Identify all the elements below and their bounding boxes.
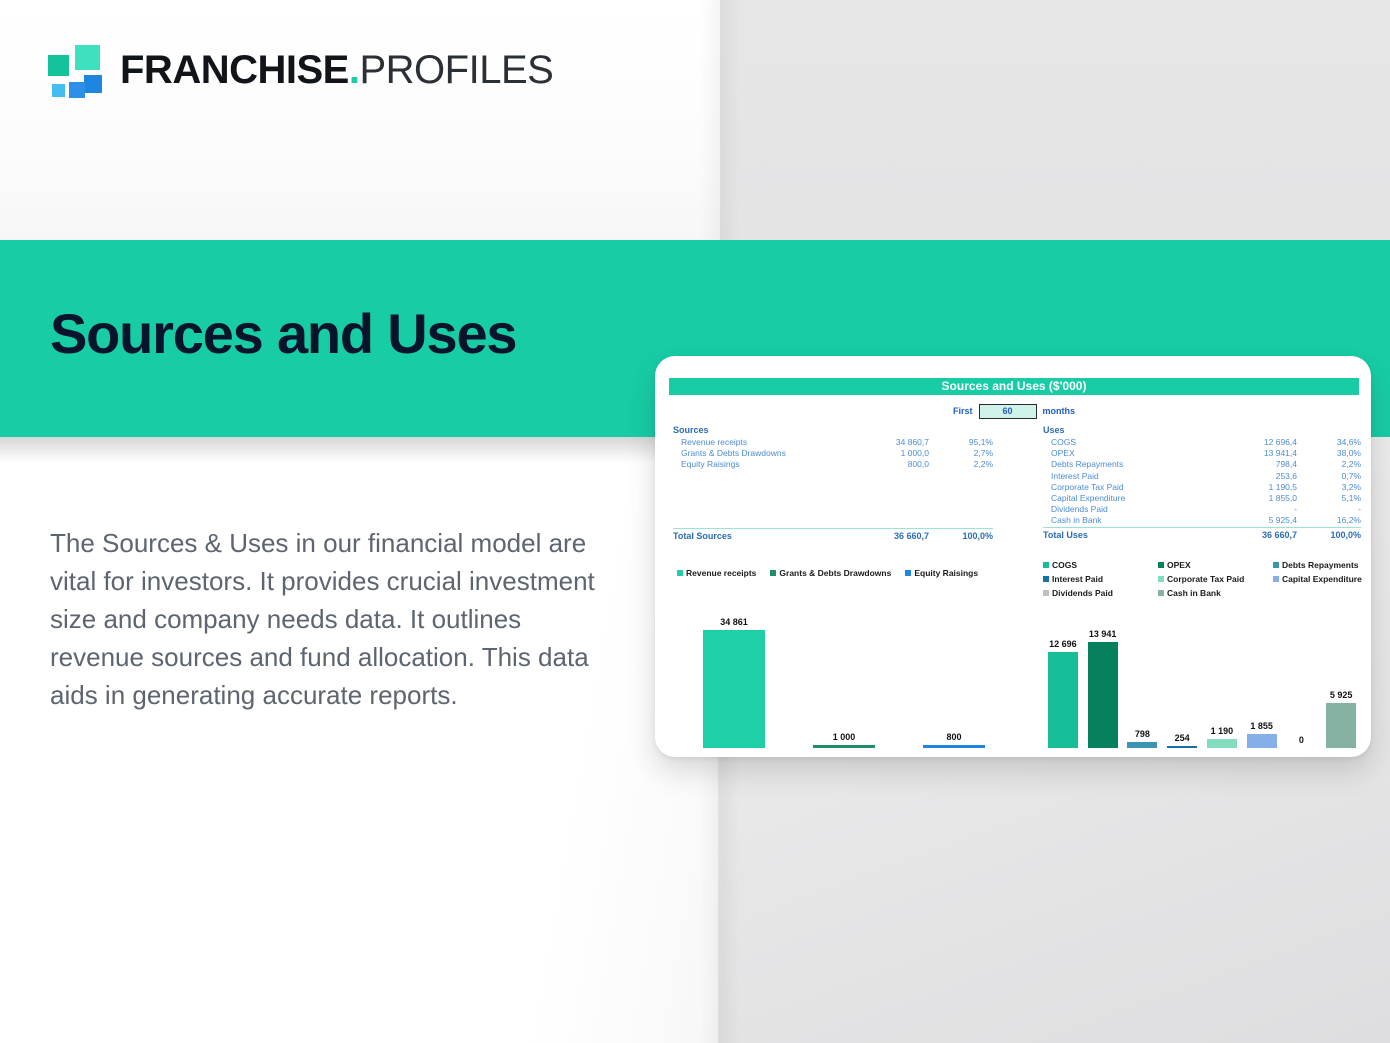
row-label: COGS	[1043, 437, 1226, 447]
bar	[1088, 642, 1118, 748]
brand-logo: FRANCHISE.PROFILES	[48, 45, 553, 95]
bar-value-label: 1 855	[1250, 721, 1273, 731]
legend-label: Equity Raisings	[914, 568, 978, 578]
row-label: Revenue receipts	[673, 437, 856, 447]
uses-bars: 12 69613 9417982541 1901 85505 925	[1043, 608, 1361, 748]
legend-item: Equity Raisings	[905, 568, 978, 578]
table-row: Revenue receipts 34 860,7 95,1%	[673, 437, 993, 448]
legend-swatch-icon	[1273, 576, 1279, 582]
row-percent: 2,7%	[935, 448, 993, 458]
row-label: Grants & Debts Drawdowns	[673, 448, 856, 458]
row-value: 5 925,4	[1226, 515, 1303, 525]
row-label: Dividends Paid	[1043, 504, 1226, 514]
table-row: Corporate Tax Paid 1 190,5 3,2%	[1043, 482, 1361, 493]
bar-group: 800	[923, 608, 985, 748]
logo-word-profiles: PROFILES	[359, 48, 553, 92]
bar-value-label: 5 925	[1330, 690, 1353, 700]
row-percent: 5,1%	[1303, 493, 1361, 503]
logo-word-franchise: FRANCHISE	[120, 48, 349, 92]
uses-bar-chart: 12 69613 9417982541 1901 85505 925	[1043, 608, 1361, 748]
bar-value-label: 12 696	[1049, 639, 1077, 649]
bar-group: 254	[1167, 608, 1197, 748]
row-value: 1 000,0	[856, 448, 935, 458]
legend-label: Corporate Tax Paid	[1167, 574, 1244, 584]
legend-item: Debts Repayments	[1273, 560, 1363, 570]
table-spacer	[673, 471, 993, 528]
body-paragraph: The Sources & Uses in our financial mode…	[50, 524, 620, 714]
table-row: Equity Raisings 800,0 2,2%	[673, 459, 993, 470]
row-percent: -	[1303, 504, 1361, 514]
legend-label: Dividends Paid	[1052, 588, 1113, 598]
uses-total-row: Total Uses 36 660,7 100,0%	[1043, 527, 1361, 543]
row-value: 798,4	[1226, 459, 1303, 469]
legend-swatch-icon	[1273, 562, 1279, 568]
sources-header: Sources	[673, 425, 993, 435]
bar-value-label: 13 941	[1089, 629, 1117, 639]
period-prefix-label: First	[953, 406, 973, 416]
row-value: 253,6	[1226, 471, 1303, 481]
table-row: Capital Expenditure 1 855,0 5,1%	[1043, 493, 1361, 504]
legend-label: Revenue receipts	[686, 568, 756, 578]
legend-label: COGS	[1052, 560, 1077, 570]
bar-value-label: 0	[1299, 735, 1304, 745]
bar-value-label: 1 190	[1211, 726, 1234, 736]
bar	[813, 745, 875, 748]
sources-total-row: Total Sources 36 660,7 100,0%	[673, 528, 993, 544]
legend-label: Debts Repayments	[1282, 560, 1359, 570]
legend-item: COGS	[1043, 560, 1158, 570]
bar	[1048, 652, 1078, 748]
period-suffix-label: months	[1043, 406, 1076, 416]
row-label: OPEX	[1043, 448, 1226, 458]
legend-swatch-icon	[770, 570, 776, 576]
spreadsheet: Sources and Uses ($'000) First 60 months…	[665, 378, 1361, 748]
page-title: Sources and Uses	[50, 305, 516, 364]
bar-group: 1 855	[1247, 608, 1277, 748]
legend-item: Dividends Paid	[1043, 588, 1158, 598]
bar-group: 12 696	[1048, 608, 1078, 748]
bar	[1326, 703, 1356, 748]
legend-label: Cash in Bank	[1167, 588, 1221, 598]
row-percent: 3,2%	[1303, 482, 1361, 492]
sources-bar-chart: 34 8611 000800	[679, 608, 1009, 748]
table-row: OPEX 13 941,4 38,0%	[1043, 448, 1361, 459]
table-row: Debts Repayments 798,4 2,2%	[1043, 459, 1361, 470]
bar	[1127, 742, 1157, 748]
row-label: Equity Raisings	[673, 459, 856, 469]
row-percent: 16,2%	[1303, 515, 1361, 525]
table-row: Grants & Debts Drawdowns 1 000,0 2,7%	[673, 448, 993, 459]
legend-item: Cash in Bank	[1158, 588, 1273, 598]
row-value: -	[1226, 504, 1303, 514]
sheet-title: Sources and Uses ($'000)	[669, 378, 1359, 395]
legend-swatch-icon	[1043, 576, 1049, 582]
row-label: Capital Expenditure	[1043, 493, 1226, 503]
legend-swatch-icon	[1158, 576, 1164, 582]
total-label: Total Sources	[673, 531, 848, 541]
uses-table: Uses COGS 12 696,4 34,6% OPEX 13 941,4 3…	[1043, 425, 1361, 543]
row-percent: 0,7%	[1303, 471, 1361, 481]
bar-group: 13 941	[1088, 608, 1118, 748]
legend-item: OPEX	[1158, 560, 1273, 570]
sources-chart-legend: Revenue receiptsGrants & Debts Drawdowns…	[677, 568, 1007, 578]
logo-dot: .	[349, 48, 360, 92]
row-percent: 2,2%	[935, 459, 993, 469]
legend-swatch-icon	[1043, 562, 1049, 568]
bar	[923, 745, 985, 748]
bar-value-label: 34 861	[720, 617, 748, 627]
bar-group: 1 000	[813, 608, 875, 748]
row-percent: 38,0%	[1303, 448, 1361, 458]
table-row: COGS 12 696,4 34,6%	[1043, 437, 1361, 448]
total-percent: 100,0%	[935, 531, 993, 541]
bar-group: 0	[1286, 608, 1316, 748]
legend-swatch-icon	[1158, 562, 1164, 568]
legend-item: Revenue receipts	[677, 568, 756, 578]
legend-item: Capital Expenditure	[1273, 574, 1363, 584]
sources-bars: 34 8611 000800	[679, 608, 1009, 748]
uses-header: Uses	[1043, 425, 1361, 435]
row-label: Interest Paid	[1043, 471, 1226, 481]
bar	[703, 630, 765, 748]
uses-chart-legend: COGSOPEXDebts RepaymentsInterest PaidCor…	[1043, 560, 1363, 598]
table-row: Cash in Bank 5 925,4 16,2%	[1043, 515, 1361, 526]
total-value: 36 660,7	[848, 531, 935, 541]
total-value: 36 660,7	[1218, 530, 1303, 540]
total-label: Total Uses	[1043, 530, 1218, 540]
row-label: Corporate Tax Paid	[1043, 482, 1226, 492]
bar-value-label: 1 000	[833, 732, 856, 742]
row-percent: 2,2%	[1303, 459, 1361, 469]
legend-item: Interest Paid	[1043, 574, 1158, 584]
row-percent: 34,6%	[1303, 437, 1361, 447]
bar-group: 1 190	[1207, 608, 1237, 748]
table-row: Dividends Paid - -	[1043, 504, 1361, 515]
report-card: Sources and Uses ($'000) First 60 months…	[655, 356, 1371, 757]
bar-group: 34 861	[703, 608, 765, 748]
legend-label: Interest Paid	[1052, 574, 1103, 584]
row-label: Debts Repayments	[1043, 459, 1226, 469]
bar-value-label: 798	[1135, 729, 1150, 739]
table-row: Interest Paid 253,6 0,7%	[1043, 471, 1361, 482]
legend-swatch-icon	[1158, 590, 1164, 596]
background-top-left	[0, 0, 720, 240]
row-value: 34 860,7	[856, 437, 935, 447]
legend-label: OPEX	[1167, 560, 1191, 570]
months-input[interactable]: 60	[979, 404, 1037, 419]
background-right-top	[718, 0, 1390, 240]
total-percent: 100,0%	[1303, 530, 1361, 540]
row-label: Cash in Bank	[1043, 515, 1226, 525]
legend-item: Grants & Debts Drawdowns	[770, 568, 891, 578]
row-value: 1 855,0	[1226, 493, 1303, 503]
logo-squares-icon	[48, 45, 106, 95]
legend-label: Grants & Debts Drawdowns	[779, 568, 891, 578]
bar-value-label: 800	[946, 732, 961, 742]
legend-swatch-icon	[905, 570, 911, 576]
period-selector[interactable]: First 60 months	[669, 403, 1359, 419]
bar	[1167, 746, 1197, 748]
legend-item: Corporate Tax Paid	[1158, 574, 1273, 584]
row-value: 13 941,4	[1226, 448, 1303, 458]
bar	[1247, 734, 1277, 748]
row-value: 1 190,5	[1226, 482, 1303, 492]
row-percent: 95,1%	[935, 437, 993, 447]
legend-swatch-icon	[677, 570, 683, 576]
bar-group: 5 925	[1326, 608, 1356, 748]
legend-swatch-icon	[1043, 590, 1049, 596]
logo-wordmark: FRANCHISE.PROFILES	[120, 50, 553, 90]
bar-value-label: 254	[1175, 733, 1190, 743]
teal-band-shadow	[0, 437, 720, 463]
row-value: 12 696,4	[1226, 437, 1303, 447]
legend-label: Capital Expenditure	[1282, 574, 1362, 584]
bar	[1207, 739, 1237, 748]
sources-table: Sources Revenue receipts 34 860,7 95,1% …	[673, 425, 993, 544]
bar-group: 798	[1127, 608, 1157, 748]
row-value: 800,0	[856, 459, 935, 469]
